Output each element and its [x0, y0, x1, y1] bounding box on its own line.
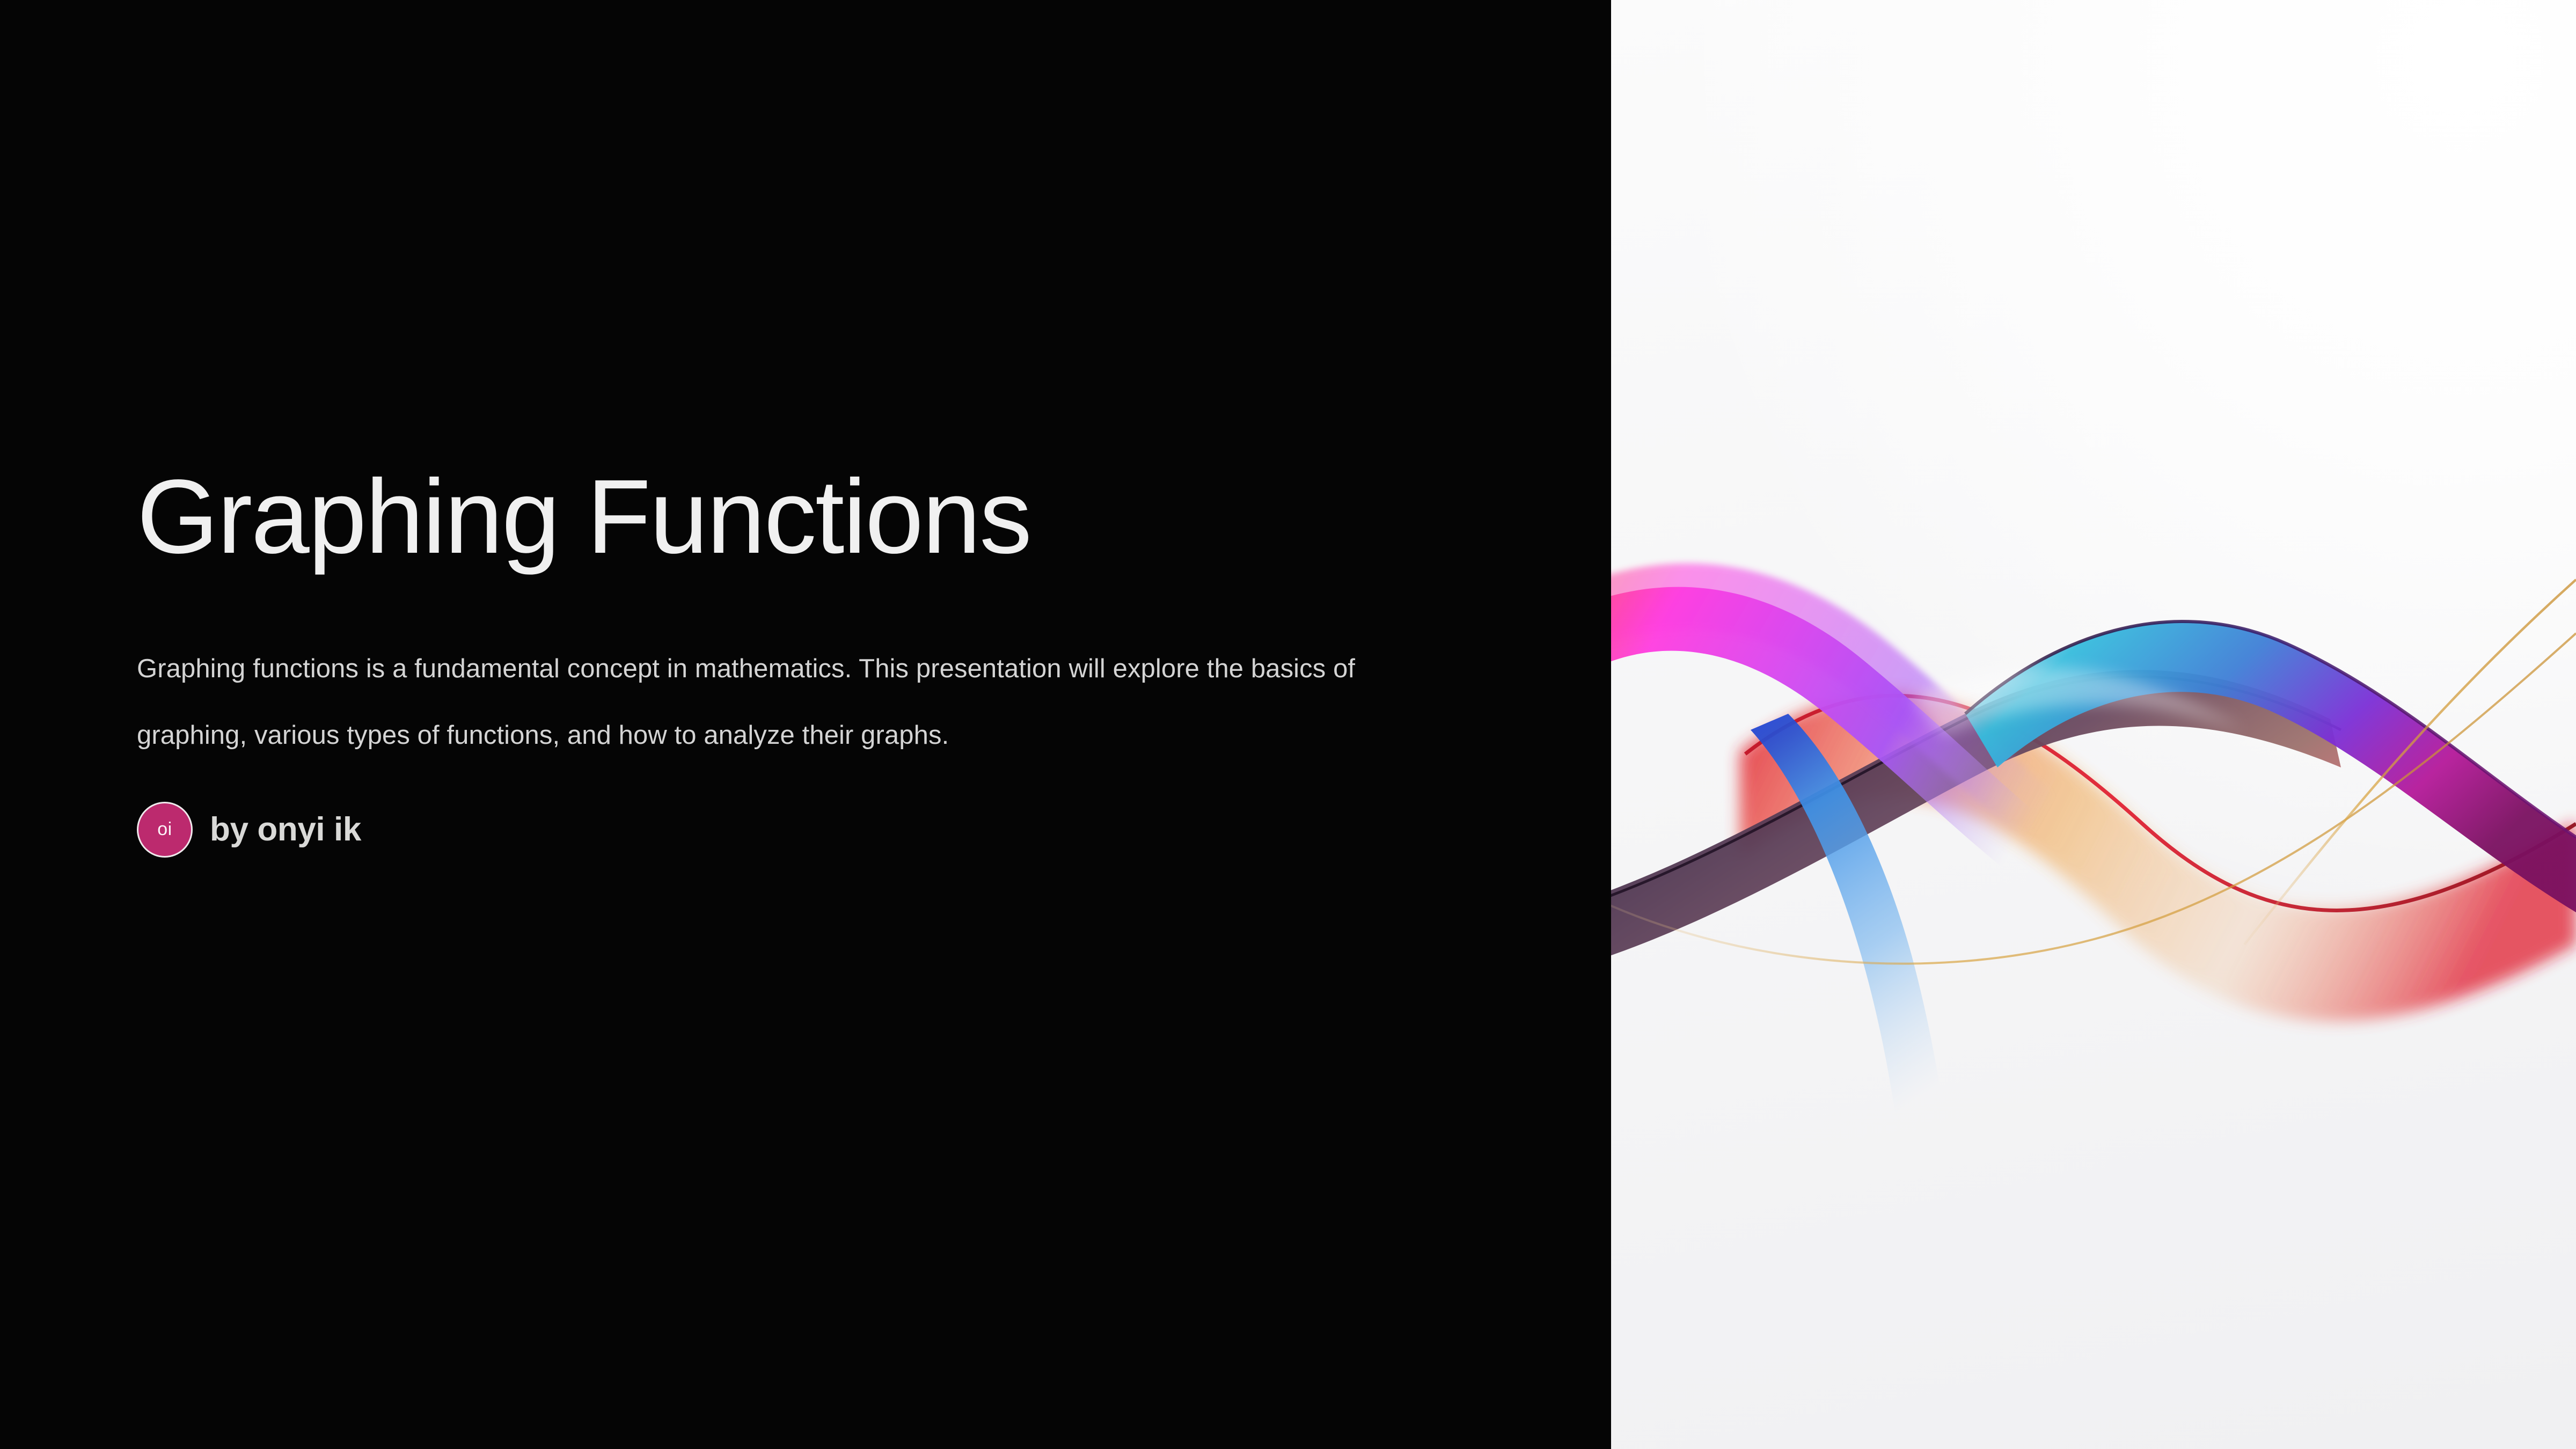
left-content-panel: Graphing Functions Graphing functions is… [0, 0, 1611, 1449]
page-title: Graphing Functions [137, 462, 1457, 572]
title-slide: Graphing Functions Graphing functions is… [0, 0, 2576, 1449]
slide-description: Graphing functions is a fundamental conc… [137, 635, 1436, 769]
avatar-initials: oi [157, 819, 172, 840]
abstract-ribbon-artwork [1611, 0, 2576, 1449]
author-name: by onyi ik [210, 810, 361, 848]
title-block: Graphing Functions Graphing functions is… [137, 462, 1457, 858]
byline: oi by onyi ik [137, 802, 1457, 858]
avatar: oi [137, 802, 193, 858]
artwork-panel [1611, 0, 2576, 1449]
